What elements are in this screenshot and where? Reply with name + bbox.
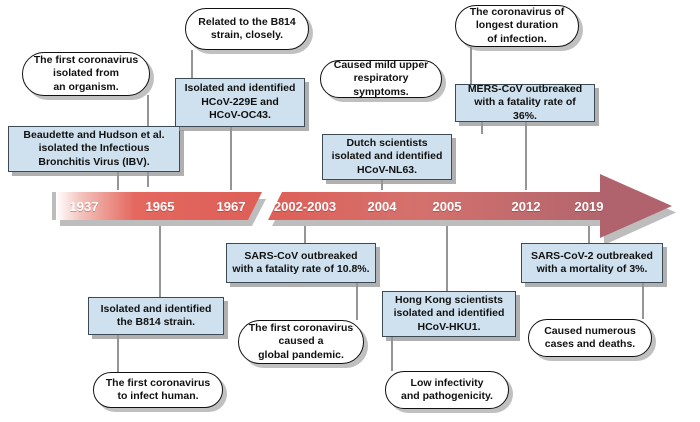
event-hcov-229e-oc43[interactable]: Isolated and identified HCoV-229E and HC… — [175, 78, 305, 127]
year-label-1937: 1937 — [70, 199, 99, 214]
year-label-2012: 2012 — [512, 199, 541, 214]
arrow-tail — [52, 192, 58, 220]
event-text: Beaudette and Hudson et al. isolated the… — [14, 129, 174, 170]
year-label-2019: 2019 — [575, 199, 604, 214]
year-label-2005: 2005 — [433, 199, 462, 214]
note-first-infect-human[interactable]: The first coronavirus to infect human. — [93, 372, 223, 408]
note-text: The coronavirus of longest duration of i… — [461, 6, 573, 47]
note-text: The first coronavirus to infect human. — [99, 377, 217, 404]
event-sars-cov-outbreak[interactable]: SARS-CoV outbreaked with a fatality rate… — [226, 243, 376, 283]
event-text: Isolated and identified the B814 strain. — [94, 303, 218, 330]
note-text: Caused numerous cases and deaths. — [534, 325, 646, 352]
event-text: SARS-CoV outbreaked with a fatality rate… — [232, 250, 370, 277]
note-longest-duration-infection[interactable]: The coronavirus of longest duration of i… — [455, 5, 579, 47]
event-beaudette-hudson-ibv[interactable]: Beaudette and Hudson et al. isolated the… — [8, 126, 180, 172]
event-text: Isolated and identified HCoV-229E and HC… — [181, 82, 299, 123]
event-mers-cov-outbreak[interactable]: MERS-CoV outbreaked with a fatality rate… — [455, 84, 595, 122]
note-text: The first coronavirus isolated from an o… — [28, 54, 144, 95]
arrow-head — [600, 174, 672, 238]
note-first-coronavirus-isolated[interactable]: The first coronavirus isolated from an o… — [22, 52, 150, 96]
event-text: SARS-CoV-2 outbreaked with a mortality o… — [527, 250, 657, 277]
year-label-2002-2003: 2002-2003 — [274, 199, 336, 214]
note-text: Caused mild upper respiratory symptoms. — [326, 59, 436, 100]
year-label-2004: 2004 — [368, 199, 397, 214]
note-numerous-cases-deaths[interactable]: Caused numerous cases and deaths. — [528, 319, 652, 357]
event-dutch-hcov-nl63[interactable]: Dutch scientists isolated and identified… — [322, 134, 452, 180]
year-label-1965: 1965 — [146, 199, 175, 214]
event-text: MERS-CoV outbreaked with a fatality rate… — [461, 83, 589, 124]
event-b814-strain-identified[interactable]: Isolated and identified the B814 strain. — [88, 297, 224, 335]
year-label-1967: 1967 — [217, 199, 246, 214]
timeline-figure: 1937 1965 1967 2002-2003 2004 2005 2012 … — [0, 0, 700, 422]
note-low-infectivity[interactable]: Low infectivity and pathogenicity. — [385, 371, 509, 409]
note-text: The first coronavirus caused a global pa… — [244, 322, 358, 363]
event-hong-kong-hcov-hku1[interactable]: Hong Kong scientists isolated and identi… — [382, 291, 516, 337]
event-text: Hong Kong scientists isolated and identi… — [388, 294, 510, 335]
note-related-to-b814[interactable]: Related to the B814 strain, closely. — [185, 8, 309, 50]
note-global-pandemic[interactable]: The first coronavirus caused a global pa… — [238, 320, 364, 364]
note-text: Low infectivity and pathogenicity. — [391, 377, 503, 404]
event-text: Dutch scientists isolated and identified… — [328, 137, 446, 178]
note-text: Related to the B814 strain, closely. — [191, 16, 303, 43]
event-sars-cov-2-outbreak[interactable]: SARS-CoV-2 outbreaked with a mortality o… — [521, 243, 663, 283]
note-mild-upper-respiratory[interactable]: Caused mild upper respiratory symptoms. — [320, 60, 442, 98]
